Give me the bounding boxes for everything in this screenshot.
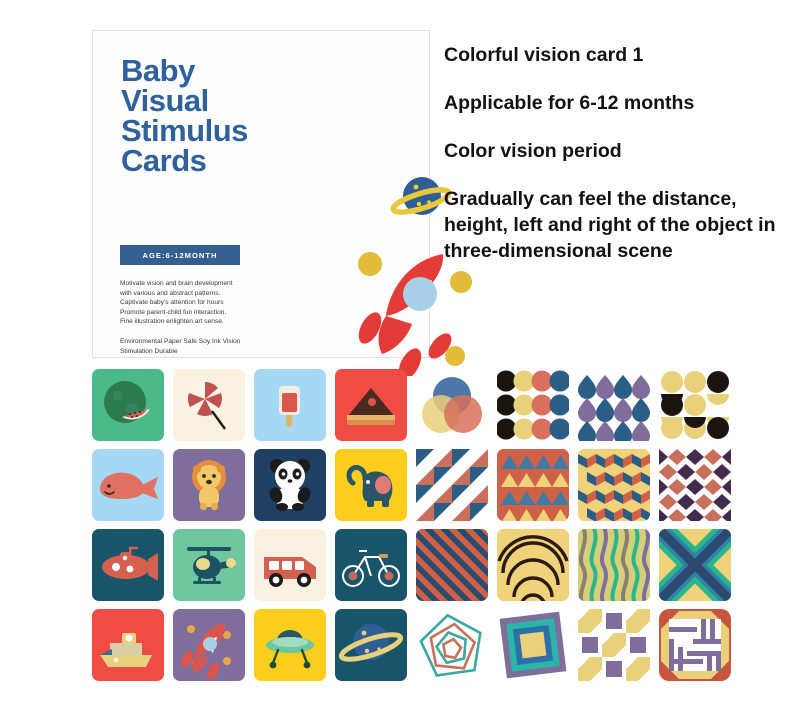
card-bus[interactable] xyxy=(254,529,326,601)
circle-grid-pattern xyxy=(497,369,569,441)
package-description-line: Fine illustration enlighten art sense. xyxy=(120,317,300,327)
planet-icon xyxy=(335,609,407,681)
card-watermelon[interactable] xyxy=(92,369,164,441)
venn-circles-pattern xyxy=(416,369,488,441)
card-diamond-lattice[interactable] xyxy=(659,449,731,521)
age-badge: AGE:6-12MONTH xyxy=(120,245,240,265)
card-rocket[interactable] xyxy=(173,609,245,681)
watermelon-icon xyxy=(92,369,164,441)
pinwheel-triangle-pattern xyxy=(416,449,488,521)
package-description-line: Motivate vision and brain development xyxy=(120,279,300,289)
half-circle-grid-pattern xyxy=(659,369,731,441)
card-checker-zigzag[interactable] xyxy=(578,609,650,681)
card-grid xyxy=(92,369,740,694)
lollipop-icon xyxy=(173,369,245,441)
card-wavy-lines[interactable] xyxy=(578,529,650,601)
basketweave-pattern xyxy=(659,609,731,681)
card-droplets[interactable] xyxy=(578,369,650,441)
card-nested-pentagons[interactable] xyxy=(416,609,488,681)
marketing-copy: Colorful vision card 1 Applicable for 6-… xyxy=(444,42,790,264)
rocket-icon xyxy=(173,609,245,681)
package-title: Baby Visual Stimulus Cards xyxy=(121,56,248,176)
checker-zigzag-pattern xyxy=(578,609,650,681)
copy-line-4: Gradually can feel the distance, height,… xyxy=(444,186,790,264)
copy-line-2: Applicable for 6-12 months xyxy=(444,90,790,116)
package-materials-line: Stimulation Durable xyxy=(120,347,300,357)
nested-pentagon-pattern xyxy=(416,609,488,681)
copy-line-1: Colorful vision card 1 xyxy=(444,42,790,68)
card-pinwheel-triangles[interactable] xyxy=(416,449,488,521)
cake-slice-icon xyxy=(335,369,407,441)
package-title-line-4: Cards xyxy=(121,146,248,176)
package-description-line: with various and abstract patterns. xyxy=(120,289,300,299)
card-lion[interactable] xyxy=(173,449,245,521)
concentric-arc-pattern xyxy=(497,529,569,601)
card-ufo[interactable] xyxy=(254,609,326,681)
elephant-icon xyxy=(335,449,407,521)
package-materials-line: Environmental Paper Safe Soy Ink Vision xyxy=(120,337,300,347)
x-cross-pattern xyxy=(659,529,731,601)
triangle-row-pattern xyxy=(497,449,569,521)
diagonal-stripe-pattern xyxy=(416,529,488,601)
card-lollipop[interactable] xyxy=(173,369,245,441)
card-submarine[interactable] xyxy=(92,529,164,601)
ufo-icon xyxy=(254,609,326,681)
droplet-grid-pattern xyxy=(578,369,650,441)
nested-square-pattern xyxy=(497,609,569,681)
bus-icon xyxy=(254,529,326,601)
card-nested-squares[interactable] xyxy=(497,609,569,681)
package-description-block: Motivate vision and brain development wi… xyxy=(120,279,300,327)
boat-icon xyxy=(92,609,164,681)
card-x-cross[interactable] xyxy=(659,529,731,601)
card-triangle-rows[interactable] xyxy=(497,449,569,521)
tumbling-cube-pattern xyxy=(578,449,650,521)
package-description-line: Captivate baby's attention for hours xyxy=(120,298,300,308)
package-title-line-1: Baby xyxy=(121,56,248,86)
package-title-line-3: Stimulus xyxy=(121,116,248,146)
diamond-lattice-pattern xyxy=(659,449,731,521)
card-basketweave[interactable] xyxy=(659,609,731,681)
card-diagonal-stripes[interactable] xyxy=(416,529,488,601)
card-cake-slice[interactable] xyxy=(335,369,407,441)
package-box: Baby Visual Stimulus Cards AGE:6-12MONTH… xyxy=(92,30,430,358)
wavy-line-pattern xyxy=(578,529,650,601)
card-whale[interactable] xyxy=(92,449,164,521)
panda-icon xyxy=(254,449,326,521)
card-helicopter[interactable] xyxy=(173,529,245,601)
card-panda[interactable] xyxy=(254,449,326,521)
card-arcs[interactable] xyxy=(497,529,569,601)
card-bicycle[interactable] xyxy=(335,529,407,601)
card-elephant[interactable] xyxy=(335,449,407,521)
copy-line-3: Color vision period xyxy=(444,138,790,164)
submarine-icon xyxy=(92,529,164,601)
card-planet[interactable] xyxy=(335,609,407,681)
planet-illustration xyxy=(389,171,451,226)
card-boat[interactable] xyxy=(92,609,164,681)
popsicle-icon xyxy=(254,369,326,441)
package-materials-block: Environmental Paper Safe Soy Ink Vision … xyxy=(120,337,300,356)
card-popsicle[interactable] xyxy=(254,369,326,441)
package-description-line: Promote parent-child fun interaction. xyxy=(120,308,300,318)
package-title-line-2: Visual xyxy=(121,86,248,116)
card-circle-grid[interactable] xyxy=(497,369,569,441)
bicycle-icon xyxy=(335,529,407,601)
card-cube-tumbling[interactable] xyxy=(578,449,650,521)
lion-icon xyxy=(173,449,245,521)
card-half-circles[interactable] xyxy=(659,369,731,441)
card-venn-circles[interactable] xyxy=(416,369,488,441)
whale-icon xyxy=(92,449,164,521)
helicopter-icon xyxy=(173,529,245,601)
